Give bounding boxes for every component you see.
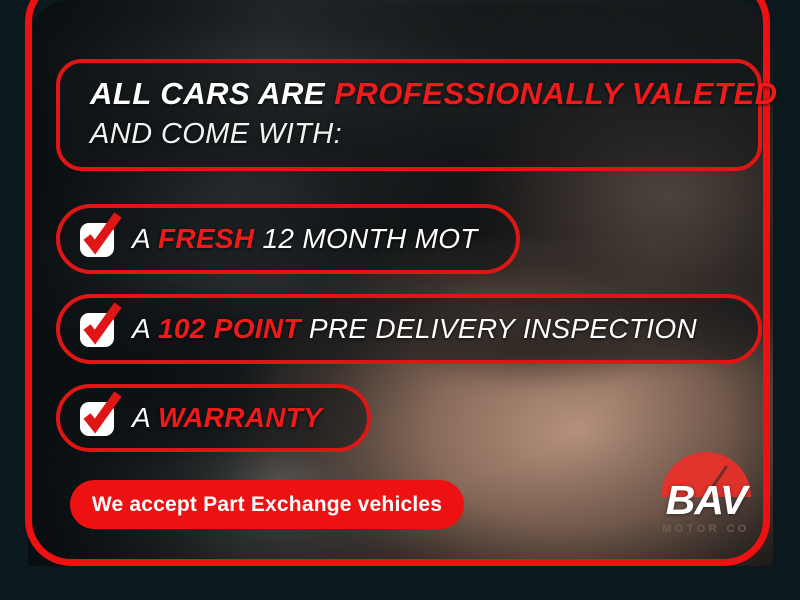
part-exchange-pill[interactable]: We accept Part Exchange vehicles [70,480,464,529]
feature-pill-warranty[interactable]: A WARRANTY [56,384,371,452]
part-exchange-label: We accept Part Exchange vehicles [92,493,442,517]
checkbox-checked-icon [80,400,116,436]
checkbox-checked-icon [80,221,116,257]
headline-line-1-white: ALL CARS ARE [90,76,334,111]
logo-tagline: MOTOR CO [645,524,767,535]
banner-content: ALL CARS ARE PROFESSIONALLY VALETED AND … [0,0,800,600]
feature-pill-inspection-label: A 102 POINT PRE DELIVERY INSPECTION [132,313,697,345]
feature-pill-mot-label: A FRESH 12 MONTH MOT [132,223,478,255]
promo-banner: ALL CARS ARE PROFESSIONALLY VALETED AND … [0,0,800,600]
headline-line-2: AND COME WITH: [90,116,758,152]
logo-wordmark: BAV [645,480,767,521]
headline-line-1-red: PROFESSIONALLY VALETED [334,76,777,111]
feature-pill-inspection[interactable]: A 102 POINT PRE DELIVERY INSPECTION [56,294,762,364]
bav-motor-co-logo: BAV MOTOR CO [645,452,767,552]
checkbox-checked-icon [80,311,116,347]
feature-pill-warranty-label: A WARRANTY [132,402,322,434]
headline-box: ALL CARS ARE PROFESSIONALLY VALETED AND … [56,59,762,171]
feature-pill-mot[interactable]: A FRESH 12 MONTH MOT [56,204,520,274]
headline-line-1: ALL CARS ARE PROFESSIONALLY VALETED [90,76,758,113]
